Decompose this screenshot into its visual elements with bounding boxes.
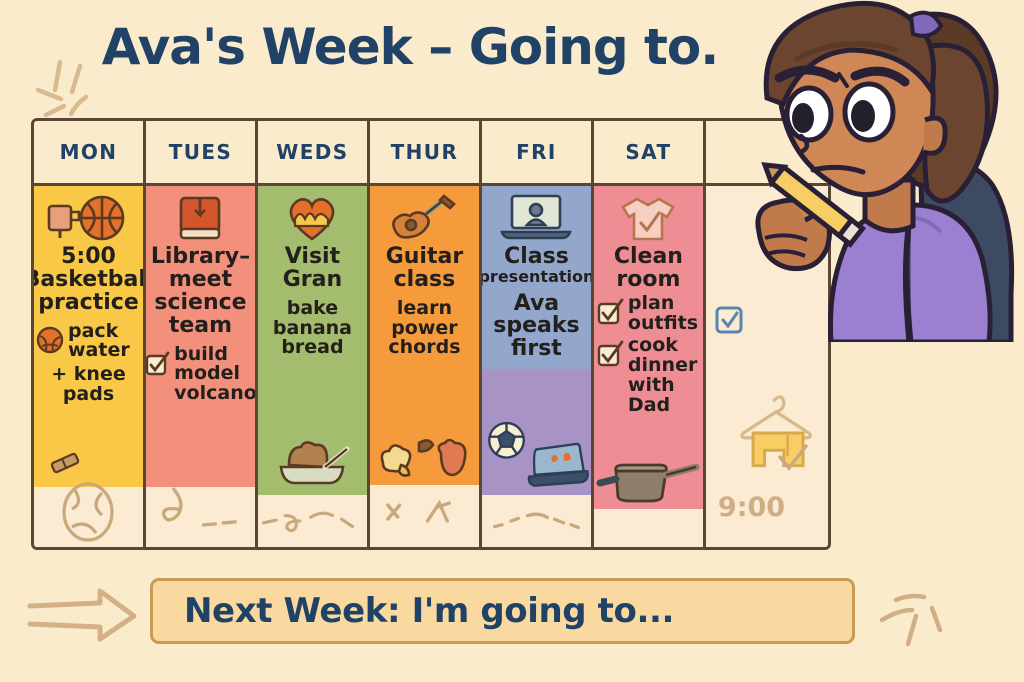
- heart-bread-icon: [284, 192, 340, 244]
- thur-line-1: Guitar: [383, 246, 466, 269]
- sparkle-doodle-2: [880, 578, 970, 658]
- ball-doodle: [34, 481, 143, 543]
- next-week-banner[interactable]: Next Week: I'm going to...: [150, 578, 855, 644]
- sat-content: Clean room plan outfits: [594, 186, 703, 415]
- day-header-thur: THUR: [370, 121, 479, 186]
- dash-doodle: [482, 505, 591, 539]
- tues-line-1: Library–: [148, 246, 253, 269]
- basketball-icon: [36, 326, 64, 358]
- eraser-icon: [34, 451, 143, 475]
- extra-content: [706, 186, 828, 340]
- day-column-weds[interactable]: WEDS Visit Gran bake banan: [258, 121, 370, 547]
- thur-content: Guitar class learn power chords: [370, 186, 479, 358]
- loop-doodle: [146, 485, 255, 539]
- next-week-banner-text: Next Week: I'm going to...: [153, 591, 674, 631]
- day-header-fri: FRI: [482, 121, 591, 186]
- mon-note-1: pack water: [34, 322, 143, 362]
- checkbox-blue-icon[interactable]: [713, 304, 745, 340]
- fri-line-1: Class: [501, 246, 572, 269]
- weds-line-1: Visit: [282, 246, 343, 269]
- day-column-fri[interactable]: FRI: [482, 121, 594, 547]
- baking-dish-icon: [258, 435, 367, 491]
- checkbox-checked-icon[interactable]: [596, 298, 624, 330]
- mon-note-2-text: + knee pads: [34, 365, 143, 405]
- tues-note-1-text: build model volcano: [174, 345, 257, 404]
- snack-and-apple-icon: [370, 433, 479, 481]
- checkbox-checked-icon[interactable]: [146, 351, 170, 381]
- mon-content: 5:00 Basketball practice: [34, 186, 143, 405]
- day-column-mon[interactable]: MON: [34, 121, 146, 547]
- thur-note-3: chords: [385, 338, 463, 358]
- mon-line-1: 5:00: [58, 246, 119, 269]
- laptop-presentation-icon: [496, 192, 576, 244]
- tues-line-3: science: [151, 292, 249, 315]
- day-column-sat[interactable]: SAT Clean room: [594, 121, 706, 547]
- fri-line-2: presentation: [482, 269, 594, 286]
- tshirt-check-icon: [617, 192, 679, 244]
- thur-line-2: class: [391, 269, 459, 292]
- saucepan-icon: [594, 459, 703, 505]
- weds-note-3: bread: [278, 338, 346, 358]
- week-calendar-grid: MON: [31, 118, 831, 550]
- day-column-extra[interactable]: 9:00: [706, 121, 828, 547]
- mon-note-1-text: pack water: [68, 322, 141, 362]
- fri-note-3: first: [508, 338, 565, 361]
- right-arrow-doodle: [22, 586, 142, 648]
- tues-note-1[interactable]: build model volcano: [146, 345, 258, 404]
- check-doodle-extra: [776, 443, 810, 477]
- page-title: Ava's Week – Going to.: [0, 18, 820, 76]
- mon-line-3: practice: [35, 292, 142, 315]
- fri-note-1: Ava: [511, 293, 562, 316]
- fri-content: Class presentation Ava speaks first: [482, 186, 591, 361]
- sat-note-2[interactable]: cook dinner with Dad: [594, 336, 703, 415]
- day-column-tues[interactable]: TUES Library–: [146, 121, 258, 547]
- poster-canvas: Ava's Week – Going to.: [0, 0, 1024, 682]
- checkbox-checked-icon-2[interactable]: [596, 340, 624, 372]
- sat-note-1-text: plan outfits: [628, 294, 701, 334]
- day-header-sat: SAT: [594, 121, 703, 186]
- day-header-extra: [706, 121, 828, 186]
- basketball-and-waterbottle-icon: [40, 192, 136, 244]
- check-doodle: [370, 495, 479, 537]
- weds-line-2: Gran: [280, 269, 345, 292]
- time-note-extra: 9:00: [718, 492, 785, 523]
- squiggle-doodle: [258, 501, 367, 541]
- thur-note-1: learn: [394, 299, 455, 319]
- tues-content: Library– meet science team build model v…: [146, 186, 255, 404]
- soccerball-and-laptop-icon: [482, 415, 591, 491]
- sat-note-1[interactable]: plan outfits: [594, 294, 703, 334]
- day-header-mon: MON: [34, 121, 143, 186]
- day-column-thur[interactable]: THUR: [370, 121, 482, 547]
- sat-line-1: Clean: [611, 246, 686, 269]
- tues-line-2: meet: [166, 269, 235, 292]
- sat-line-2: room: [613, 269, 683, 292]
- fri-note-2: speaks: [490, 315, 582, 338]
- day-header-tues: TUES: [146, 121, 255, 186]
- mon-line-2: Basketball: [34, 269, 146, 292]
- sat-note-2-text: cook dinner with Dad: [628, 336, 701, 415]
- book-icon: [173, 192, 227, 244]
- day-header-weds: WEDS: [258, 121, 367, 186]
- tues-line-4: team: [166, 315, 235, 338]
- weds-note-1: bake: [284, 299, 341, 319]
- guitar-icon: [388, 192, 460, 244]
- weds-content: Visit Gran bake banana bread: [258, 186, 367, 358]
